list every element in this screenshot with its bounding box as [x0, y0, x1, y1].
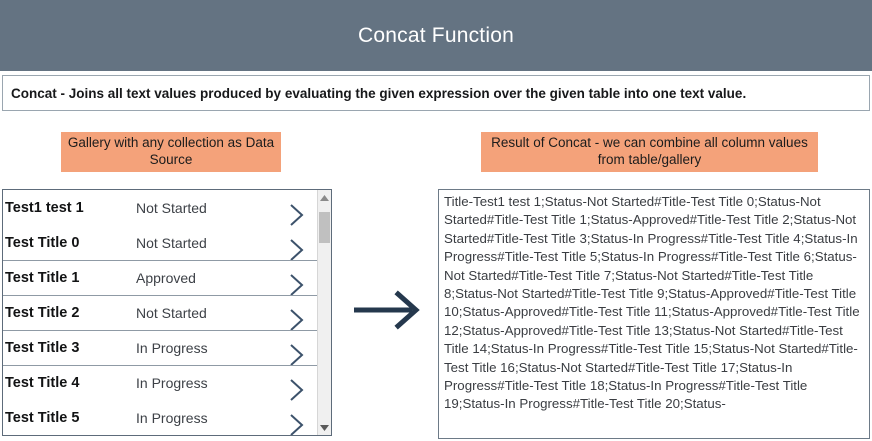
row-title: Test Title 4	[5, 375, 133, 391]
scroll-up-arrow-icon[interactable]	[318, 191, 331, 204]
concat-result-text: Title-Test1 test 1;Status-Not Started#Ti…	[444, 193, 864, 414]
table-row[interactable]: Test Title 2Not Started	[3, 295, 317, 330]
gallery-scrollbar[interactable]	[317, 190, 331, 435]
result-caption-box: Result of Concat - we can combine all co…	[481, 132, 818, 172]
row-status: In Progress	[133, 340, 277, 356]
description-banner: Concat - Joins all text values produced …	[2, 75, 870, 111]
table-row[interactable]: Test Title 5In Progress	[3, 400, 317, 435]
table-row[interactable]: Test Title 4In Progress	[3, 365, 317, 400]
row-status: In Progress	[133, 410, 277, 426]
row-title: Test Title 2	[5, 305, 133, 321]
gallery-row-list: Test1 test 1Not StartedTest Title 0Not S…	[3, 190, 317, 435]
row-title: Test Title 1	[5, 270, 133, 286]
page-title: Concat Function	[358, 24, 514, 48]
gallery-caption-box: Gallery with any collection as Data Sour…	[61, 132, 281, 172]
concat-result-box[interactable]: Title-Test1 test 1;Status-Not Started#Ti…	[438, 189, 870, 439]
row-title: Test Title 0	[5, 235, 133, 251]
table-row[interactable]: Test Title 0Not Started	[3, 225, 317, 260]
right-arrow-icon	[352, 288, 430, 332]
description-text: Concat - Joins all text values produced …	[11, 86, 746, 101]
chevron-right-icon[interactable]	[277, 412, 317, 437]
result-caption-text: Result of Concat - we can combine all co…	[487, 135, 812, 169]
table-row[interactable]: Test1 test 1Not Started	[3, 190, 317, 225]
gallery-caption-text: Gallery with any collection as Data Sour…	[67, 135, 275, 169]
row-title: Test1 test 1	[5, 200, 133, 216]
chevron-right-icon[interactable]	[277, 202, 317, 228]
row-status: In Progress	[133, 375, 277, 391]
table-row[interactable]: Test Title 3In Progress	[3, 330, 317, 365]
gallery-scrollbar-thumb[interactable]	[319, 212, 330, 243]
row-title: Test Title 5	[5, 410, 133, 426]
scroll-down-arrow-icon[interactable]	[318, 421, 331, 434]
chevron-right-icon[interactable]	[277, 237, 317, 263]
table-row[interactable]: Test Title 1Approved	[3, 260, 317, 295]
row-title: Test Title 3	[5, 340, 133, 356]
row-status: Not Started	[133, 305, 277, 321]
row-status: Not Started	[133, 200, 277, 216]
app-title-bar: Concat Function	[0, 0, 872, 71]
gallery-panel[interactable]: Test1 test 1Not StartedTest Title 0Not S…	[2, 189, 332, 436]
row-status: Approved	[133, 270, 277, 286]
row-status: Not Started	[133, 235, 277, 251]
